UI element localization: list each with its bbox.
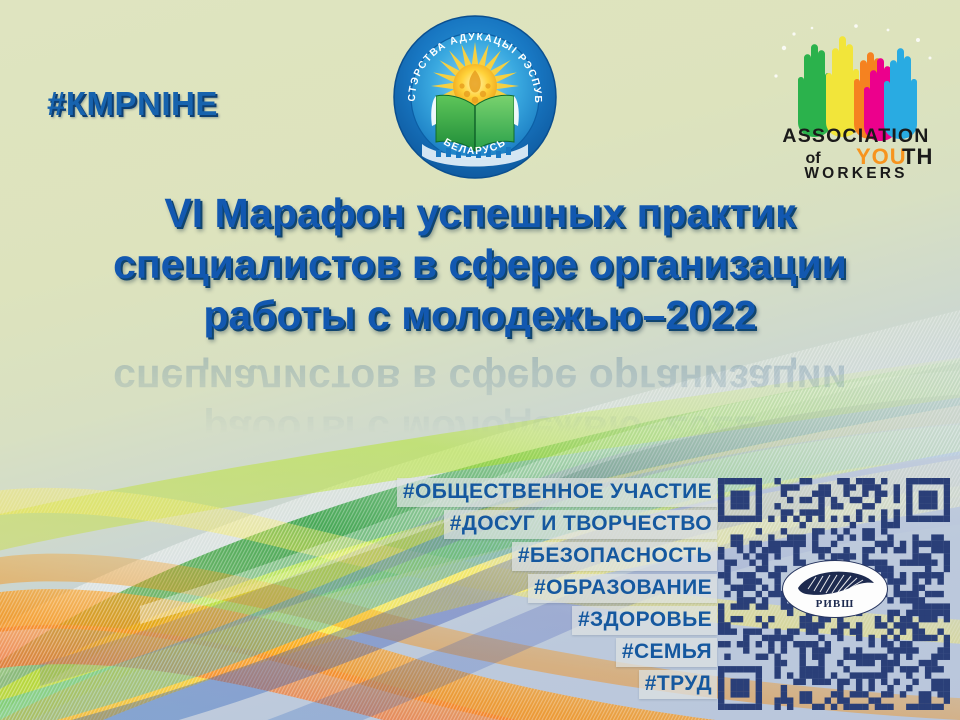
list-item: #СЕМЬЯ	[397, 638, 717, 667]
hashtag-kmpnihe: #КМРNIHE	[47, 85, 218, 123]
list-item: #ЗДОРОВЬЕ	[397, 606, 717, 635]
hashtag-leisure-creativity: #ДОСУГ И ТВОРЧЕСТВО	[444, 510, 717, 539]
qr-center-logo-label: РИВШ	[816, 599, 855, 610]
list-item: #ТРУД	[397, 670, 717, 699]
belarus-ministry-of-education-emblem: МІНІСТЭРСТВА АДУКАЦЫІ РЭСПУБЛІКІ БЕЛАРУС…	[392, 14, 558, 180]
hashtag-health: #ЗДОРОВЬЕ	[572, 606, 717, 635]
qr-center-logo: РИВШ	[782, 560, 888, 618]
list-item: #ОБРАЗОВАНИЕ	[397, 574, 717, 603]
hashtag-education: #ОБРАЗОВАНИЕ	[528, 574, 717, 603]
association-of-youth-workers-logo: ASSOCIATION of YOU TH WORKERS	[768, 18, 944, 178]
list-item: #ОБЩЕСТВЕННОЕ УЧАСТИЕ	[397, 478, 717, 507]
quill-feather-icon	[792, 570, 878, 600]
poster-canvas: МІНІСТЭРСТВА АДУКАЦЫІ РЭСПУБЛІКІ БЕЛАРУС…	[0, 0, 960, 720]
title-line-2: специалистов в сфере организации	[0, 239, 960, 290]
page-title: VI Марафон успешных практик специалистов…	[0, 188, 960, 340]
hashtag-labour: #ТРУД	[639, 670, 717, 699]
hashtag-safety: #БЕЗОПАСНОСТЬ	[512, 542, 717, 571]
qr-code[interactable]: РИВШ	[718, 478, 950, 710]
hashtag-list: #ОБЩЕСТВЕННОЕ УЧАСТИЕ #ДОСУГ И ТВОРЧЕСТВ…	[397, 478, 717, 702]
hashtag-family: #СЕМЬЯ	[616, 638, 717, 667]
list-item: #БЕЗОПАСНОСТЬ	[397, 542, 717, 571]
list-item: #ДОСУГ И ТВОРЧЕСТВО	[397, 510, 717, 539]
title-line-3: работы с молодежью–2022	[0, 290, 960, 341]
hashtag-public-participation: #ОБЩЕСТВЕННОЕ УЧАСТИЕ	[397, 478, 717, 507]
title-line-1: VI Марафон успешных практик	[0, 188, 960, 239]
ayw-line-workers: WORKERS	[804, 165, 907, 178]
